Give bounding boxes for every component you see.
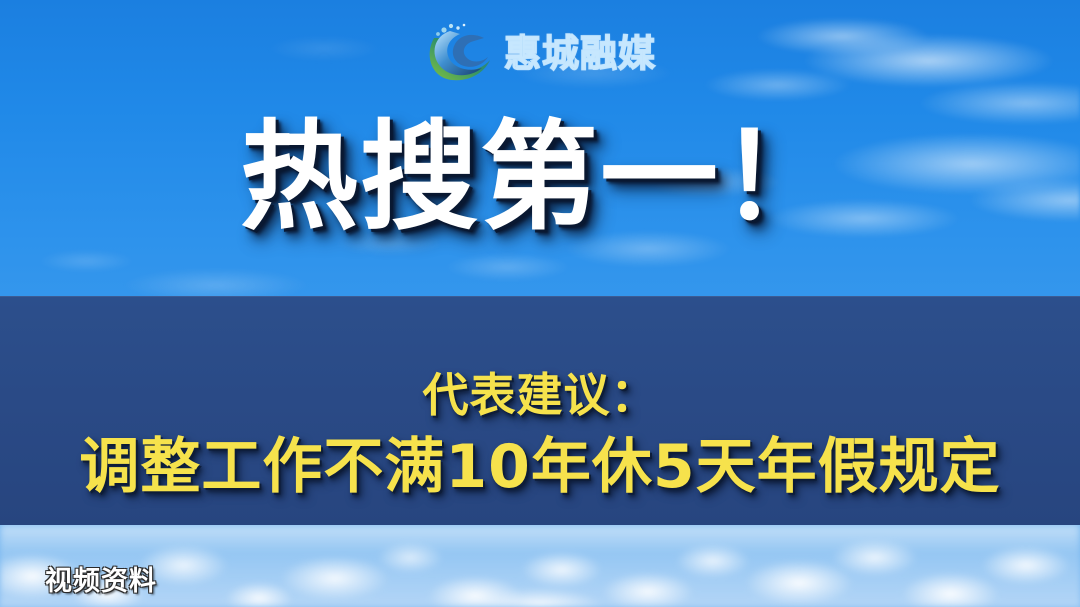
video-thumbnail-frame: 惠城融媒 热搜第一！ 代表建议： 调整工作不满10年休5天年假规定 视频资料 <box>0 0 1080 607</box>
subtitle-banner: 代表建议： 调整工作不满10年休5天年假规定 <box>0 296 1080 525</box>
subtitle-line-2: 调整工作不满10年休5天年假规定 <box>79 434 1000 501</box>
channel-logo-text: 惠城融媒 <box>504 35 656 72</box>
crescent-wave-logo-icon <box>424 22 498 84</box>
subtitle-banner-content: 代表建议： 调整工作不满10年休5天年假规定 <box>0 296 1080 525</box>
headline-title: 热搜第一！ <box>0 118 1080 236</box>
channel-logo: 惠城融媒 <box>424 22 656 84</box>
source-watermark: 视频资料 <box>45 568 157 595</box>
subtitle-line-1: 代表建议： <box>423 370 658 422</box>
